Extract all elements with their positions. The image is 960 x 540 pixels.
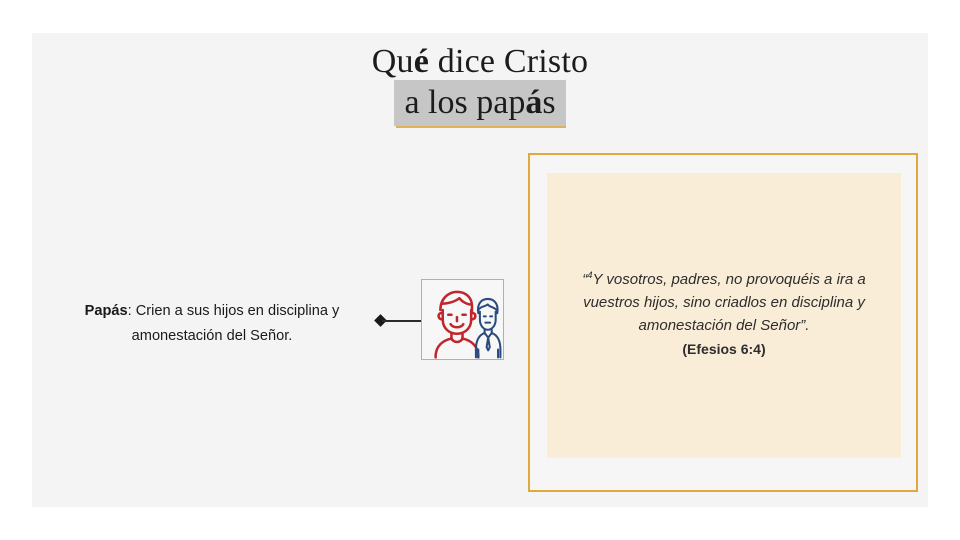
quote-body: Y vosotros, padres, no provoquéis a ira … [583,271,866,334]
papas-description: Papás: Crien a sus hijos en disciplina y… [42,299,382,349]
father-and-child-icon [422,280,503,359]
scripture-reference: (Efesios 6:4) [557,338,892,360]
father-and-child-icon-box [421,279,504,360]
scripture-quote-text: “4Y vosotros, padres, no provoquéis a ir… [557,268,892,364]
scripture-quote-box: “4Y vosotros, padres, no provoquéis a ir… [528,153,918,492]
title-line-1: Qué dice Cristo [32,33,928,82]
title-line-2-wrapper: a los papás [32,80,928,126]
title-line-1-accent: é [414,43,429,80]
connector-line [382,320,421,321]
page-title: Qué dice Cristo a los papás [32,33,928,126]
slide-canvas: Qué dice Cristo a los papás Papás: Crien… [32,33,928,507]
papas-separator: : [128,303,136,319]
title-line-2-before: a los pap [404,84,525,121]
scripture-quote-panel: “4Y vosotros, padres, no provoquéis a ir… [547,173,901,458]
title-line-1-after: dice Cristo [429,43,588,80]
papas-label: Papás [85,303,128,319]
title-line-2-highlighted: a los papás [394,80,565,126]
title-line-1-before: Qu [372,43,414,80]
title-line-2-after: s [542,84,555,121]
papas-body: Crien a sus hijos en disciplina y amones… [132,303,340,344]
title-line-2-accent: á [525,84,542,121]
title-underline-rule [396,126,566,128]
quote-close-mark: ”. [800,317,809,334]
